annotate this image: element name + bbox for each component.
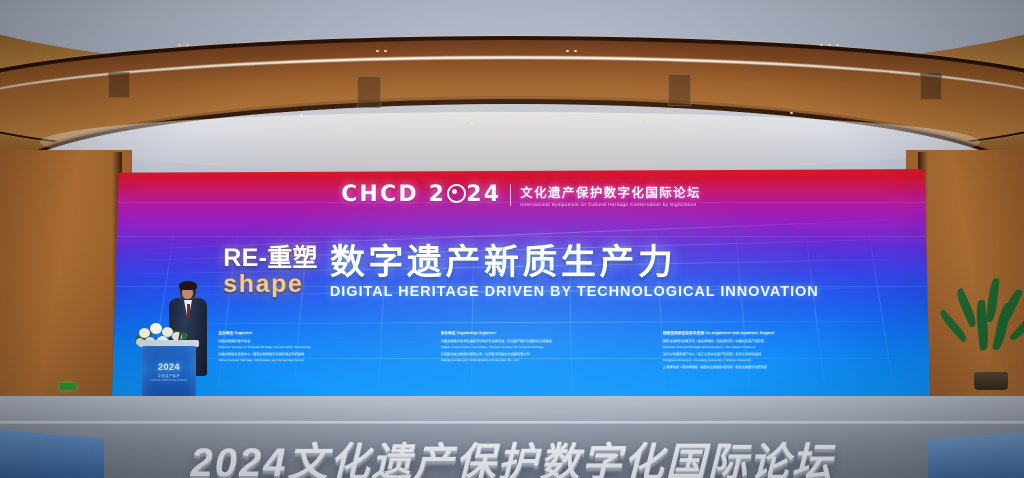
headline-en: DIGITAL HERITAGE DRIVEN BY TECHNOLOGICAL…: [330, 284, 819, 300]
chcd-acronym: CHCD 2: [341, 182, 446, 207]
reshape-logo: RE-重塑 shape: [223, 246, 318, 297]
podium-branding: 2024 文化遗产保护 DIGITAL HERITAGE FORUM: [142, 362, 196, 382]
potted-palm: [958, 276, 1022, 392]
sponsor-line: National Cultural Heritage Administratio…: [663, 345, 865, 349]
sponsor-line: 北京国文信文物保护有限公司 / 北京数字科技文化发展有限公司: [441, 351, 643, 356]
globe-emblem-icon: [447, 184, 466, 203]
sponsor-credits: 主办单位 Organizer 中国文物保护技术协会 Chinese Societ…: [218, 331, 864, 369]
sponsor-heading: 特别支持单位及学术支持 Co-organizers and Academic S…: [663, 331, 865, 336]
podium-year: 2024: [142, 362, 196, 372]
headline-cn: 数字遗产新质生产力: [330, 245, 677, 282]
podium-label-cn: 文化遗产保护: [142, 373, 196, 378]
ceiling-light-wash: [0, 0, 1024, 172]
reshape-line-one: RE-重塑: [223, 246, 318, 272]
event-logo-lockup: CHCD 224 文化遗产保护数字化国际论坛 International Sym…: [112, 182, 930, 207]
sponsor-line: Digital Conservation Committee, Chinese …: [441, 345, 643, 349]
sponsor-column: 承办单位 Organizing Organizer 中国文物保护技术协会数字化保…: [441, 331, 643, 369]
sponsor-line: Chinese Society for Cultural Heritage Co…: [218, 345, 420, 349]
sponsor-column: 主办单位 Organizer 中国文物保护技术协会 Chinese Societ…: [218, 331, 420, 369]
sponsor-line: 清华大学国家遗产中心 / 浙江大学文化遗产研究院 / 武汉大学测绘遥感: [663, 351, 865, 356]
hero-headline: 数字遗产新质生产力 DIGITAL HERITAGE DRIVEN BY TEC…: [330, 245, 819, 300]
speaker-hair: [179, 281, 197, 290]
sponsor-line: Beijing Guowenxin Cultural Relics Protec…: [441, 358, 643, 362]
forum-title-cn: 文化遗产保护数字化国际论坛: [520, 182, 701, 201]
sponsor-line: Tsinghua University / Zhejiang Universit…: [663, 358, 865, 362]
podium-label-en: DIGITAL HERITAGE FORUM: [142, 379, 196, 382]
led-screen: CHCD 224 文化遗产保护数字化国际论坛 International Sym…: [112, 162, 930, 400]
plant-pot: [974, 372, 1008, 390]
conference-hall-photo: CHCD 224 文化遗产保护数字化国际论坛 International Sym…: [0, 0, 1024, 478]
sponsor-line: 上海博物馆 / 南京博物院 / 陕西省文物保护研究院 / 敦煌文物数字化研究所: [663, 364, 865, 369]
led-screen-surface: CHCD 224 文化遗产保护数字化国际论坛 International Sym…: [112, 162, 930, 400]
exit-sign-icon: [60, 383, 76, 390]
ceiling: [0, 0, 1024, 172]
forum-title-en: International Symposium on Cultural Heri…: [520, 202, 701, 207]
speaker-tie: [187, 304, 190, 318]
palm-frond: [986, 278, 1000, 323]
sponsor-line: 中国文物信息咨询中心 / 国家文物局数字化保护重点科研基地: [218, 351, 420, 356]
sponsor-line: China Cultural Heritage Information and …: [218, 358, 420, 362]
palm-frond: [954, 288, 978, 328]
chcd-acronym-tail: 24: [466, 182, 501, 207]
logo-divider: [510, 184, 511, 206]
reshape-line-two: shape: [223, 272, 303, 298]
sponsor-line: 中国文物保护技术协会: [218, 338, 420, 343]
stage-front-title: 2024文化遗产保护数字化国际论坛: [0, 430, 1024, 478]
screen-content: CHCD 224 文化遗产保护数字化国际论坛 International Sym…: [112, 162, 930, 400]
sponsor-line: 国家文物局科技教育司 / 故宫博物院 / 敦煌研究院 / 中国文化遗产研究院: [663, 338, 865, 343]
sponsor-column: 特别支持单位及学术支持 Co-organizers and Academic S…: [663, 331, 865, 369]
hero-lockup: RE-重塑 shape 数字遗产新质生产力 DIGITAL HERITAGE D…: [112, 245, 930, 300]
sponsor-heading: 主办单位 Organizer: [218, 331, 420, 336]
sponsor-heading: 承办单位 Organizing Organizer: [441, 331, 643, 336]
logo-title-block: 文化遗产保护数字化国际论坛 International Symposium on…: [520, 182, 701, 207]
chcd-wordmark: CHCD 224: [341, 182, 501, 207]
sponsor-line: 中国文物保护技术协会数字化保护专业委员会 / 文化遗产数字化国际论坛组委会: [441, 338, 643, 343]
